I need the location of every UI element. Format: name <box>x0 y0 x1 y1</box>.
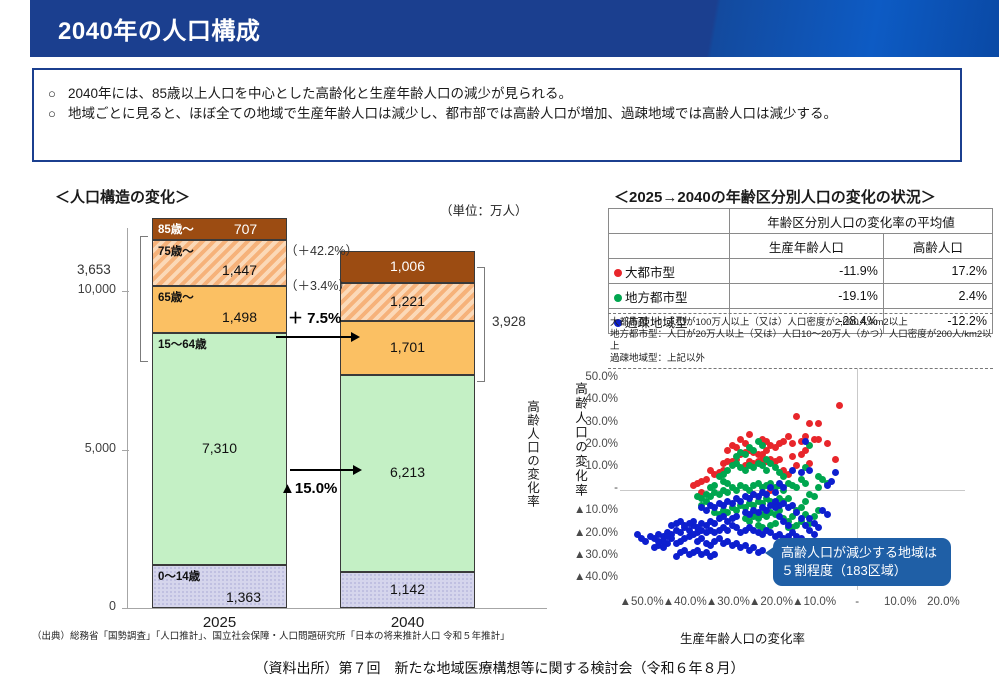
scatter-point-地方都市型 <box>755 438 762 445</box>
scatter-y-tick: ▲40.0% <box>534 571 618 583</box>
scatter-point-過疎地域型 <box>806 467 813 474</box>
bar-segment-0〜14歳: 0〜14歳1,363 <box>152 565 287 608</box>
scatter-point-過疎地域型 <box>651 544 658 551</box>
scatter-point-過疎地域型 <box>655 538 662 545</box>
scatter-point-大都市型 <box>720 460 727 467</box>
scatter-point-過疎地域型 <box>660 544 667 551</box>
legend-dot-green-icon <box>614 294 622 302</box>
summary-box: ○ 2040年には、85歳以上人口を中心とした高齢化と生産年齢人口の減少が見られ… <box>32 68 962 162</box>
y-tick-mark <box>122 291 129 292</box>
bar-chart-x-axis <box>127 608 547 609</box>
header-banner: 2040年の人口構成 <box>30 0 999 57</box>
reference-note: （資料出所）第７回 新たな地域医療構想等に関する検討会（令和６年８月） <box>0 658 999 678</box>
scatter-point-過疎地域型 <box>824 511 831 518</box>
cell-metro-working: -11.9% <box>730 259 884 284</box>
bar-segment-0〜14歳: 1,142 <box>340 572 475 608</box>
table-row: 大都市型 -11.9% 17.2% <box>609 259 993 284</box>
summary-text-2: 地域ごとに見ると、ほぼ全ての地域で生産年齢人口は減少し、都市部では高齢人口が増加… <box>68 104 960 124</box>
bar-segment-15〜64歳: 15〜64歳7,310 <box>152 333 287 564</box>
scatter-y-tick: ▲10.0% <box>534 504 618 516</box>
bracket-2040 <box>477 267 485 382</box>
scatter-point-大都市型 <box>811 436 818 443</box>
summary-text-1: 2040年には、85歳以上人口を中心とした高齢化と生産年齢人口の減少が見られる。 <box>68 84 960 104</box>
segment-value: 1,006 <box>341 258 474 274</box>
header-gradient-wedge <box>579 0 999 57</box>
bar-segment-65歳〜: 65歳〜1,498 <box>152 286 287 333</box>
bar-2025: 0〜14歳1,36315〜64歳7,31065歳〜1,49875歳〜1,4478… <box>152 210 287 608</box>
delta-working-label: ▲15.0% <box>280 480 337 497</box>
scatter-point-過疎地域型 <box>711 551 718 558</box>
scatter-zero-hline <box>620 490 965 491</box>
scatter-y-tick: 10.0% <box>534 460 618 472</box>
scatter-y-tick: 40.0% <box>534 393 618 405</box>
bar-segment-75歳〜: 75歳〜1,447 <box>152 240 287 286</box>
scatter-y-tick: - <box>534 482 618 494</box>
scatter-point-大都市型 <box>789 453 796 460</box>
bullet-icon: ○ <box>48 104 68 124</box>
scatter-point-大都市型 <box>836 402 843 409</box>
scatter-point-過疎地域型 <box>776 480 783 487</box>
y-tick-label: 10,000 <box>44 282 116 296</box>
scatter-y-tick: ▲30.0% <box>534 549 618 561</box>
scatter-point-過疎地域型 <box>742 509 749 516</box>
segment-value: 1,363 <box>153 589 310 605</box>
delta-elderly-label: ＋ 7.5% <box>288 307 341 328</box>
change-rate-scatter-chart: 高齢人口の変化率 50.0%40.0%30.0%20.0%10.0%-▲10.0… <box>520 360 999 650</box>
scatter-y-tick: ▲20.0% <box>534 527 618 539</box>
scatter-point-過疎地域型 <box>673 553 680 560</box>
scatter-y-tick: 50.0% <box>534 371 618 383</box>
scatter-point-地方都市型 <box>720 478 727 485</box>
scatter-point-過疎地域型 <box>798 469 805 476</box>
scatter-point-過疎地域型 <box>832 469 839 476</box>
bracket-2025 <box>140 236 148 362</box>
segment-value: 1,447 <box>153 262 306 278</box>
bar-segment-85歳〜: 1,006 <box>340 251 475 283</box>
bar-chart-y-axis <box>127 228 128 608</box>
cell-metro-elderly: 17.2% <box>883 259 992 284</box>
scatter-point-大都市型 <box>724 447 731 454</box>
y-tick-label: 0 <box>44 599 116 613</box>
table-row: 地方都市型 -19.1% 2.4% <box>609 284 993 309</box>
summary-item: ○ 2040年には、85歳以上人口を中心とした高齢化と生産年齢人口の減少が見られ… <box>48 84 960 104</box>
scatter-x-tick: 20.0% <box>915 596 971 608</box>
scatter-point-過疎地域型 <box>815 524 822 531</box>
arrow-working-icon <box>290 465 362 475</box>
scatter-point-大都市型 <box>824 440 831 447</box>
scatter-callout: 高齢人口が減少する地域は５割程度（183区域） <box>773 538 951 586</box>
bracket-2025-label: 3,653 <box>77 262 111 277</box>
scatter-point-大都市型 <box>746 431 753 438</box>
scatter-point-大都市型 <box>806 420 813 427</box>
segment-age-label: 65歳〜 <box>158 289 194 305</box>
scatter-x-axis-label: 生産年齢人口の変化率 <box>680 628 805 647</box>
bar-2040: 1,1426,2131,7011,2211,006 <box>340 210 475 608</box>
scatter-point-過疎地域型 <box>789 467 796 474</box>
scatter-point-地方都市型 <box>780 473 787 480</box>
table-blank-cell <box>609 234 730 259</box>
bullet-icon: ○ <box>48 84 68 104</box>
scatter-point-大都市型 <box>690 482 697 489</box>
y-tick-mark <box>122 450 129 451</box>
segment-age-label: 0〜14歳 <box>158 568 200 584</box>
segment-value: 1,701 <box>341 339 474 355</box>
scatter-point-大都市型 <box>707 467 714 474</box>
delta-75plus-label: （＋3.4%） <box>285 275 351 294</box>
scatter-point-大都市型 <box>789 440 796 447</box>
footnote-metro: 大都市型 ：人口が100万人以上（又は）人口密度が2,000人/km2以上 <box>610 317 993 329</box>
scatter-y-tick: 30.0% <box>534 416 618 428</box>
table-row-label-regional: 地方都市型 <box>609 284 730 309</box>
scatter-point-大都市型 <box>737 436 744 443</box>
y-tick-mark <box>122 608 129 609</box>
scatter-point-過疎地域型 <box>729 522 736 529</box>
scatter-point-過疎地域型 <box>694 529 701 536</box>
segment-age-label: 75歳〜 <box>158 243 194 259</box>
scatter-point-過疎地域型 <box>811 531 818 538</box>
table-group-header: 年齢区分別人口の変化率の平均値 <box>730 209 993 234</box>
bar-segment-75歳〜: 1,221 <box>340 283 475 322</box>
source-note: （出典）総務省「国勢調査」「人口推計」、国立社会保障・人口問題研究所「日本の将来… <box>32 628 510 642</box>
delta-85plus-label: （＋42.2%） <box>285 240 358 259</box>
table-col-elderly: 高齢人口 <box>883 234 992 259</box>
bar-segment-85歳〜: 85歳〜707 <box>152 218 287 240</box>
bracket-2040-label: 3,928 <box>492 314 526 329</box>
segment-age-label: 15〜64歳 <box>158 336 207 352</box>
table-corner-cell <box>609 209 730 234</box>
scatter-point-大都市型 <box>793 413 800 420</box>
summary-item: ○ 地域ごとに見ると、ほぼ全ての地域で生産年齢人口は減少し、都市部では高齢人口が… <box>48 104 960 124</box>
right-chart-heading: ＜2025→2040の年齢区分別人口の変化の状況＞ <box>614 186 936 207</box>
segment-value: 7,310 <box>153 440 286 456</box>
arrow-elderly-icon <box>276 332 360 342</box>
scatter-point-過疎地域型 <box>802 438 809 445</box>
segment-value: 1,498 <box>153 309 306 325</box>
y-tick-label: 5,000 <box>44 441 116 455</box>
table-row-label-metro: 大都市型 <box>609 259 730 284</box>
bar-segment-65歳〜: 1,701 <box>340 321 475 375</box>
left-chart-heading: ＜人口構造の変化＞ <box>55 186 190 207</box>
segment-value: 707 <box>153 221 312 237</box>
scatter-point-過疎地域型 <box>634 531 641 538</box>
cell-regional-elderly: 2.4% <box>883 284 992 309</box>
footnote-regional: 地方都市型：人口が20万人以上（又は）人口10〜20万人（かつ）人口密度が200… <box>610 329 993 353</box>
scatter-point-地方都市型 <box>798 476 805 483</box>
page-title: 2040年の人口構成 <box>58 11 260 46</box>
scatter-point-過疎地域型 <box>824 482 831 489</box>
scatter-point-過疎地域型 <box>785 522 792 529</box>
scatter-point-過疎地域型 <box>694 538 701 545</box>
segment-value: 1,142 <box>341 581 474 597</box>
population-structure-bar-chart: 05,00010,000 0〜14歳1,36315〜64歳7,31065歳〜1,… <box>0 210 560 620</box>
scatter-y-tick: 20.0% <box>534 438 618 450</box>
scatter-point-大都市型 <box>815 420 822 427</box>
legend-dot-red-icon <box>614 269 622 277</box>
scatter-point-地方都市型 <box>802 498 809 505</box>
scatter-point-大都市型 <box>832 456 839 463</box>
segment-value: 1,221 <box>341 293 474 309</box>
table-col-working-age: 生産年齢人口 <box>730 234 884 259</box>
cell-regional-working: -19.1% <box>730 284 884 309</box>
